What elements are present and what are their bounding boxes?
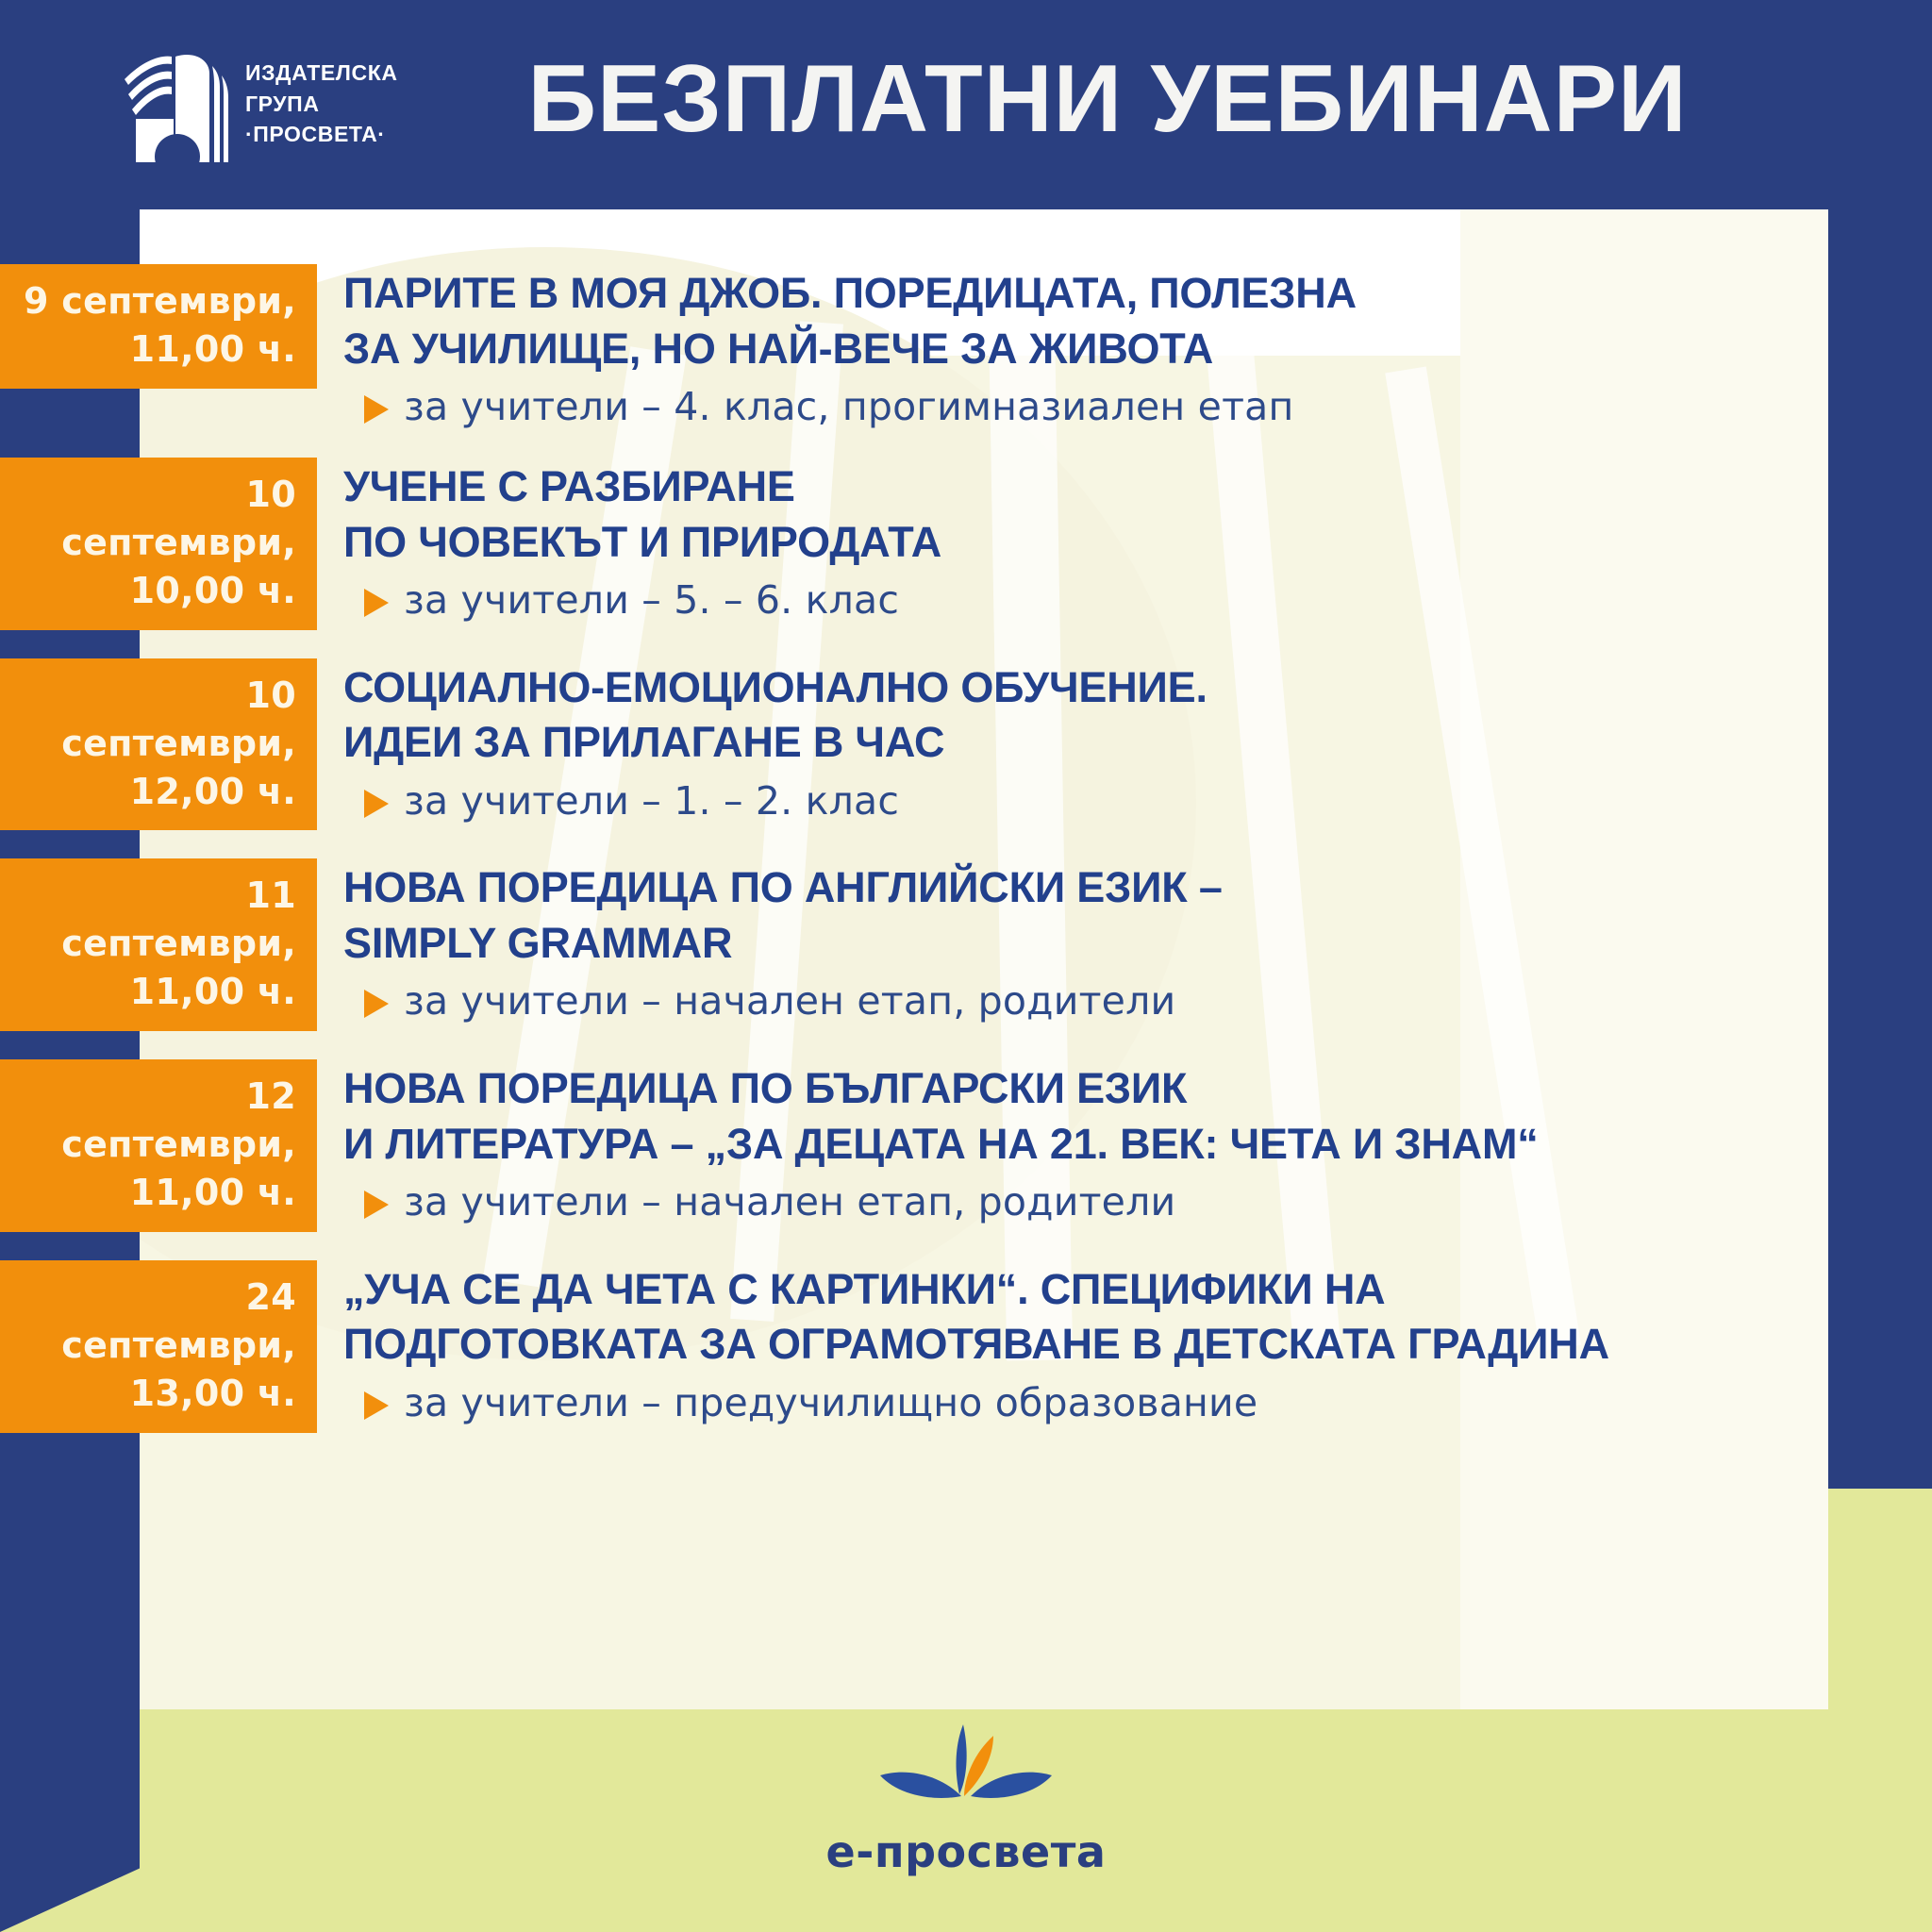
event-title-line-2: ПО ЧОВЕКЪТ И ПРИРОДАТА bbox=[343, 515, 1932, 571]
event-title-line-2: ЗА УЧИЛИЩЕ, НО НАЙ-ВЕЧЕ ЗА ЖИВОТА bbox=[343, 322, 1932, 377]
event-time: 12,00 ч. bbox=[9, 768, 296, 816]
event-datetime: 10 септември, 12,00 ч. bbox=[0, 658, 317, 831]
triangle-bullet-icon bbox=[364, 395, 389, 424]
event-date: 12 септември, bbox=[61, 1075, 296, 1165]
list-item: 10 септември, 12,00 ч. СОЦИАЛНО-ЕМОЦИОНА… bbox=[0, 658, 1932, 831]
event-date: 10 септември, bbox=[61, 474, 296, 563]
event-audience: за учители – 5. – 6. клас bbox=[404, 577, 899, 623]
event-body: НОВА ПОРЕДИЦА ПО БЪЛГАРСКИ ЕЗИК И ЛИТЕРА… bbox=[317, 1059, 1932, 1224]
event-title-line-1: СОЦИАЛНО-ЕМОЦИОНАЛНО ОБУЧЕНИЕ. bbox=[343, 660, 1932, 716]
event-time: 13,00 ч. bbox=[9, 1370, 296, 1418]
event-audience-row: за учители – 1. – 2. клас bbox=[343, 778, 1932, 824]
event-body: СОЦИАЛНО-ЕМОЦИОНАЛНО ОБУЧЕНИЕ. ИДЕИ ЗА П… bbox=[317, 658, 1932, 824]
event-body: ПАРИТЕ В МОЯ ДЖОБ. ПОРЕДИЦАТА, ПОЛЕЗНА З… bbox=[317, 264, 1932, 429]
event-title-line-1: НОВА ПОРЕДИЦА ПО АНГЛИЙСКИ ЕЗИК – bbox=[343, 860, 1932, 916]
triangle-bullet-icon bbox=[364, 1191, 389, 1219]
webinar-list: 9 септември, 11,00 ч. ПАРИТЕ В МОЯ ДЖОБ.… bbox=[0, 209, 1932, 1441]
event-time: 10,00 ч. bbox=[9, 567, 296, 615]
event-title-line-2: ИДЕИ ЗА ПРИЛАГАНЕ В ЧАС bbox=[343, 715, 1932, 771]
event-audience: за учители – 4. клас, прогимназиален ета… bbox=[404, 384, 1294, 429]
event-title-line-2: ПОДГОТОВКАТА ЗА ОГРАМОТЯВАНЕ В ДЕТСКАТА … bbox=[343, 1317, 1932, 1373]
event-title-line-1: „УЧА СЕ ДА ЧЕТА С КАРТИНКИ“. СПЕЦИФИКИ Н… bbox=[343, 1262, 1932, 1318]
list-item: 10 септември, 10,00 ч. УЧЕНЕ С РАЗБИРАНЕ… bbox=[0, 458, 1932, 630]
event-title-line-1: ПАРИТЕ В МОЯ ДЖОБ. ПОРЕДИЦАТА, ПОЛЕЗНА bbox=[343, 266, 1932, 322]
event-audience-row: за учители – 4. клас, прогимназиален ета… bbox=[343, 384, 1932, 429]
event-title-line-2: SIMPLY GRAMMAR bbox=[343, 916, 1932, 972]
event-datetime: 10 септември, 10,00 ч. bbox=[0, 458, 317, 630]
triangle-bullet-icon bbox=[364, 990, 389, 1018]
event-audience: за учители – предучилищно образование bbox=[404, 1380, 1257, 1425]
event-audience-row: за учители – начален етап, родители bbox=[343, 1179, 1932, 1224]
event-body: НОВА ПОРЕДИЦА ПО АНГЛИЙСКИ ЕЗИК – SIMPLY… bbox=[317, 858, 1932, 1024]
event-time: 11,00 ч. bbox=[9, 1169, 296, 1217]
triangle-bullet-icon bbox=[364, 790, 389, 818]
event-title-line-1: НОВА ПОРЕДИЦА ПО БЪЛГАРСКИ ЕЗИК bbox=[343, 1061, 1932, 1117]
event-date: 24 септември, bbox=[61, 1276, 296, 1366]
list-item: 12 септември, 11,00 ч. НОВА ПОРЕДИЦА ПО … bbox=[0, 1059, 1932, 1232]
event-date: 10 септември, bbox=[61, 675, 296, 764]
list-item: 24 септември, 13,00 ч. „УЧА СЕ ДА ЧЕТА С… bbox=[0, 1260, 1932, 1433]
event-body: УЧЕНЕ С РАЗБИРАНЕ ПО ЧОВЕКЪТ И ПРИРОДАТА… bbox=[317, 458, 1932, 623]
event-title-line-1: УЧЕНЕ С РАЗБИРАНЕ bbox=[343, 459, 1932, 515]
event-title-line-2: И ЛИТЕРАТУРА – „ЗА ДЕЦАТА НА 21. ВЕК: ЧЕ… bbox=[343, 1117, 1932, 1173]
triangle-bullet-icon bbox=[364, 589, 389, 617]
event-body: „УЧА СЕ ДА ЧЕТА С КАРТИНКИ“. СПЕЦИФИКИ Н… bbox=[317, 1260, 1932, 1425]
event-audience: за учители – 1. – 2. клас bbox=[404, 778, 899, 824]
event-time: 11,00 ч. bbox=[9, 325, 296, 374]
event-datetime: 24 септември, 13,00 ч. bbox=[0, 1260, 317, 1433]
event-audience-row: за учители – предучилищно образование bbox=[343, 1380, 1932, 1425]
poster-footer: e-просвета bbox=[0, 1709, 1932, 1932]
page-title: БЕЗПЛАТНИ УЕБИНАРИ bbox=[0, 45, 1932, 154]
leaf-sprout-icon bbox=[876, 1723, 1056, 1817]
event-audience-row: за учители – начален етап, родители bbox=[343, 978, 1932, 1024]
event-audience: за учители – начален етап, родители bbox=[404, 1179, 1175, 1224]
event-datetime: 11 септември, 11,00 ч. bbox=[0, 858, 317, 1031]
footer-wordmark: e-просвета bbox=[826, 1826, 1107, 1877]
event-datetime: 9 септември, 11,00 ч. bbox=[0, 264, 317, 389]
poster-header: ИЗДАТЕЛСКА ГРУПА ·ПРОСВЕТА· БЕЗПЛАТНИ УЕ… bbox=[0, 0, 1932, 209]
event-date: 11 септември, bbox=[61, 874, 296, 964]
triangle-bullet-icon bbox=[364, 1391, 389, 1420]
list-item: 11 септември, 11,00 ч. НОВА ПОРЕДИЦА ПО … bbox=[0, 858, 1932, 1031]
event-date: 9 септември, bbox=[24, 280, 296, 322]
event-audience-row: за учители – 5. – 6. клас bbox=[343, 577, 1932, 623]
list-item: 9 септември, 11,00 ч. ПАРИТЕ В МОЯ ДЖОБ.… bbox=[0, 264, 1932, 429]
event-time: 11,00 ч. bbox=[9, 968, 296, 1016]
webinar-poster: ИЗДАТЕЛСКА ГРУПА ·ПРОСВЕТА· БЕЗПЛАТНИ УЕ… bbox=[0, 0, 1932, 1932]
event-datetime: 12 септември, 11,00 ч. bbox=[0, 1059, 317, 1232]
event-audience: за учители – начален етап, родители bbox=[404, 978, 1175, 1024]
